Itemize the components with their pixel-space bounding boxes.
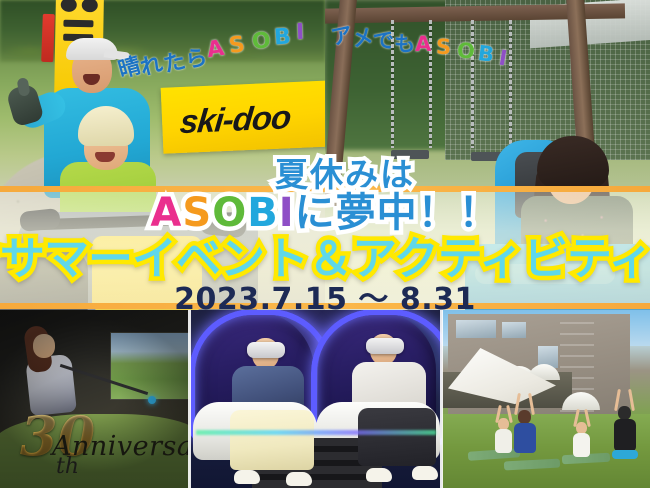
caption-char: A [415,32,432,56]
adult-cap [66,38,118,60]
photo-outdoor-yoga [442,310,650,488]
rider-shoe [412,466,438,480]
ski-doo-banner-text: ski-doo [178,98,292,141]
caption-char: B [273,24,291,50]
red-flag [41,14,55,62]
building-window [456,320,496,338]
rider-shoe [286,472,312,486]
panel-divider [188,310,191,488]
caption-char: I [296,20,305,45]
building-window [502,322,526,338]
bottom-photo-row: 30 Anniversary th [0,310,650,488]
caption-char: O [250,28,271,55]
anniversary-logo: 30 Anniversary th [8,404,186,486]
rider-shoe [234,470,260,484]
caption-char: で [371,24,395,56]
vr-headset-left [247,342,285,358]
caption-char: B [477,41,496,67]
summer-event-poster: ski-doo [0,0,650,488]
anniversary-suffix: th [56,454,79,479]
headline-block: 夏休みは ASOBIに夢中！！ [0,148,650,196]
caption-char: S [228,32,247,59]
led-strip [196,430,436,435]
rider-legs-right [358,408,436,466]
caption-char: A [205,36,226,63]
caption-hare-tara-asobi: 晴れたらASOBI [118,18,323,70]
caption-char: O [456,38,476,63]
caption-char: も [393,28,416,59]
photo-golf-simulator: 30 Anniversary th [0,310,190,488]
caption-ame-demo-asobi: アメでもASOBI [325,16,525,64]
rider-legs-left [230,410,314,470]
panel-divider [440,310,443,488]
caption-char: S [436,35,452,59]
vr-headset-right [366,338,404,354]
photo-vr-attraction [190,310,442,488]
rider-shoe [366,468,392,482]
ski-doo-banner: ski-doo [161,80,325,154]
